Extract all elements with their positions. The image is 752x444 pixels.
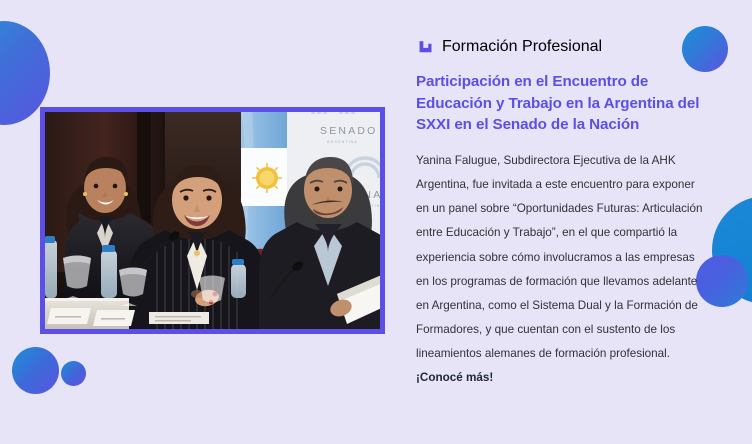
circle-bottom-left-large-decoration [12, 347, 59, 394]
circle-right-large-decoration [712, 196, 752, 304]
article-photo-frame: SENADO ARGENTINA SENADO ARGENTINA [40, 107, 385, 334]
read-more-link[interactable]: ¡Conocé más! [416, 371, 493, 384]
article-photo: SENADO ARGENTINA SENADO ARGENTINA [45, 112, 380, 329]
category-label-text: Formación Profesional [442, 38, 602, 56]
article-content: Formación Profesional Participación en e… [416, 38, 704, 390]
category-label: Formación Profesional [416, 38, 704, 56]
news-card: SENADO ARGENTINA SENADO ARGENTINA [0, 0, 752, 444]
article-body-text: Yanina Falugue, Subdirectora Ejecutiva d… [416, 154, 703, 360]
svg-text:SENADO: SENADO [320, 125, 378, 137]
page-title: Participación en el Encuentro de Educaci… [416, 71, 704, 136]
arrow-down-right-icon [416, 39, 433, 56]
circle-bottom-left-small-decoration [61, 361, 86, 386]
article-body: Yanina Falugue, Subdirectora Ejecutiva d… [416, 149, 704, 390]
svg-text:ARGENTINA: ARGENTINA [327, 140, 358, 144]
